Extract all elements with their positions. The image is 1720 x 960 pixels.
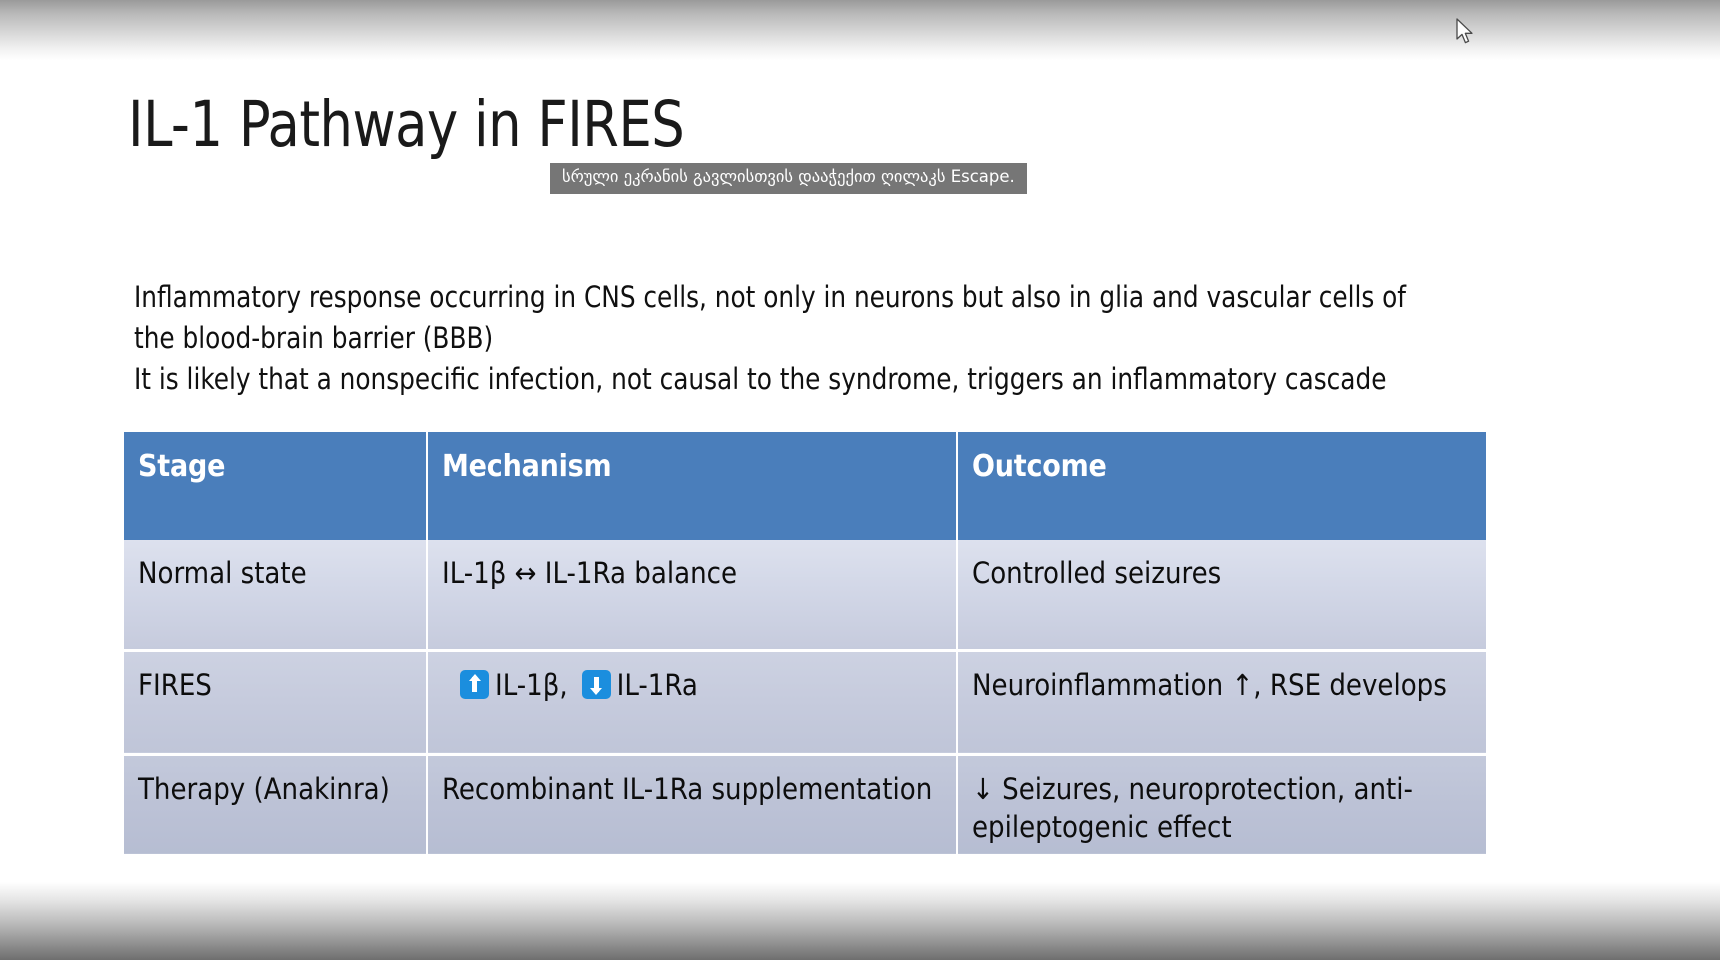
il1-pathway-table: Stage Mechanism Outcome Normal state IL-…: [124, 432, 1486, 854]
cell-stage: Therapy (Anakinra): [124, 754, 427, 854]
table-header-row: Stage Mechanism Outcome: [124, 432, 1486, 540]
cell-mechanism-text-down: IL-1Ra: [617, 668, 698, 702]
cell-outcome: Controlled seizures: [957, 540, 1486, 650]
table-row: Therapy (Anakinra) Recombinant IL-1Ra su…: [124, 754, 1486, 854]
cell-outcome: ↓ Seizures, neuroprotection, anti-epilep…: [957, 754, 1486, 854]
column-header-stage: Stage: [124, 432, 427, 540]
cell-outcome: Neuroinflammation ↑, RSE develops: [957, 650, 1486, 754]
column-header-mechanism: Mechanism: [427, 432, 957, 540]
cell-mechanism: IL-1β,IL-1Ra: [427, 650, 957, 754]
presentation-slide: IL-1 Pathway in FIRES სრული ეკრანის გავლ…: [0, 0, 1720, 960]
cell-mechanism: IL-1β ↔ IL-1Ra balance: [427, 540, 957, 650]
cell-stage: FIRES: [124, 650, 427, 754]
up-arrow-badge-icon: [460, 670, 489, 699]
body-line-3: It is likely that a nonspecific infectio…: [134, 359, 1417, 400]
column-header-outcome: Outcome: [957, 432, 1486, 540]
cell-mechanism: Recombinant IL-1Ra supplementation: [427, 754, 957, 854]
down-arrow-badge-icon: [582, 670, 611, 699]
cell-mechanism-text-up: IL-1β,: [495, 668, 568, 702]
slide-body-text: Inflammatory response occurring in CNS c…: [134, 277, 1417, 401]
body-line-1: Inflammatory response occurring in CNS c…: [134, 277, 1417, 318]
body-line-2: the blood-brain barrier (BBB): [134, 318, 1417, 359]
table-row: Normal state IL-1β ↔ IL-1Ra balance Cont…: [124, 540, 1486, 650]
page-title: IL-1 Pathway in FIRES: [128, 92, 684, 158]
fullscreen-escape-hint: სრული ეკრანის გავლისთვის დააჭექით ღილაკს…: [550, 163, 1027, 194]
cell-stage: Normal state: [124, 540, 427, 650]
table-row: FIRES IL-1β,IL-1Ra Neuroinflammation ↑, …: [124, 650, 1486, 754]
